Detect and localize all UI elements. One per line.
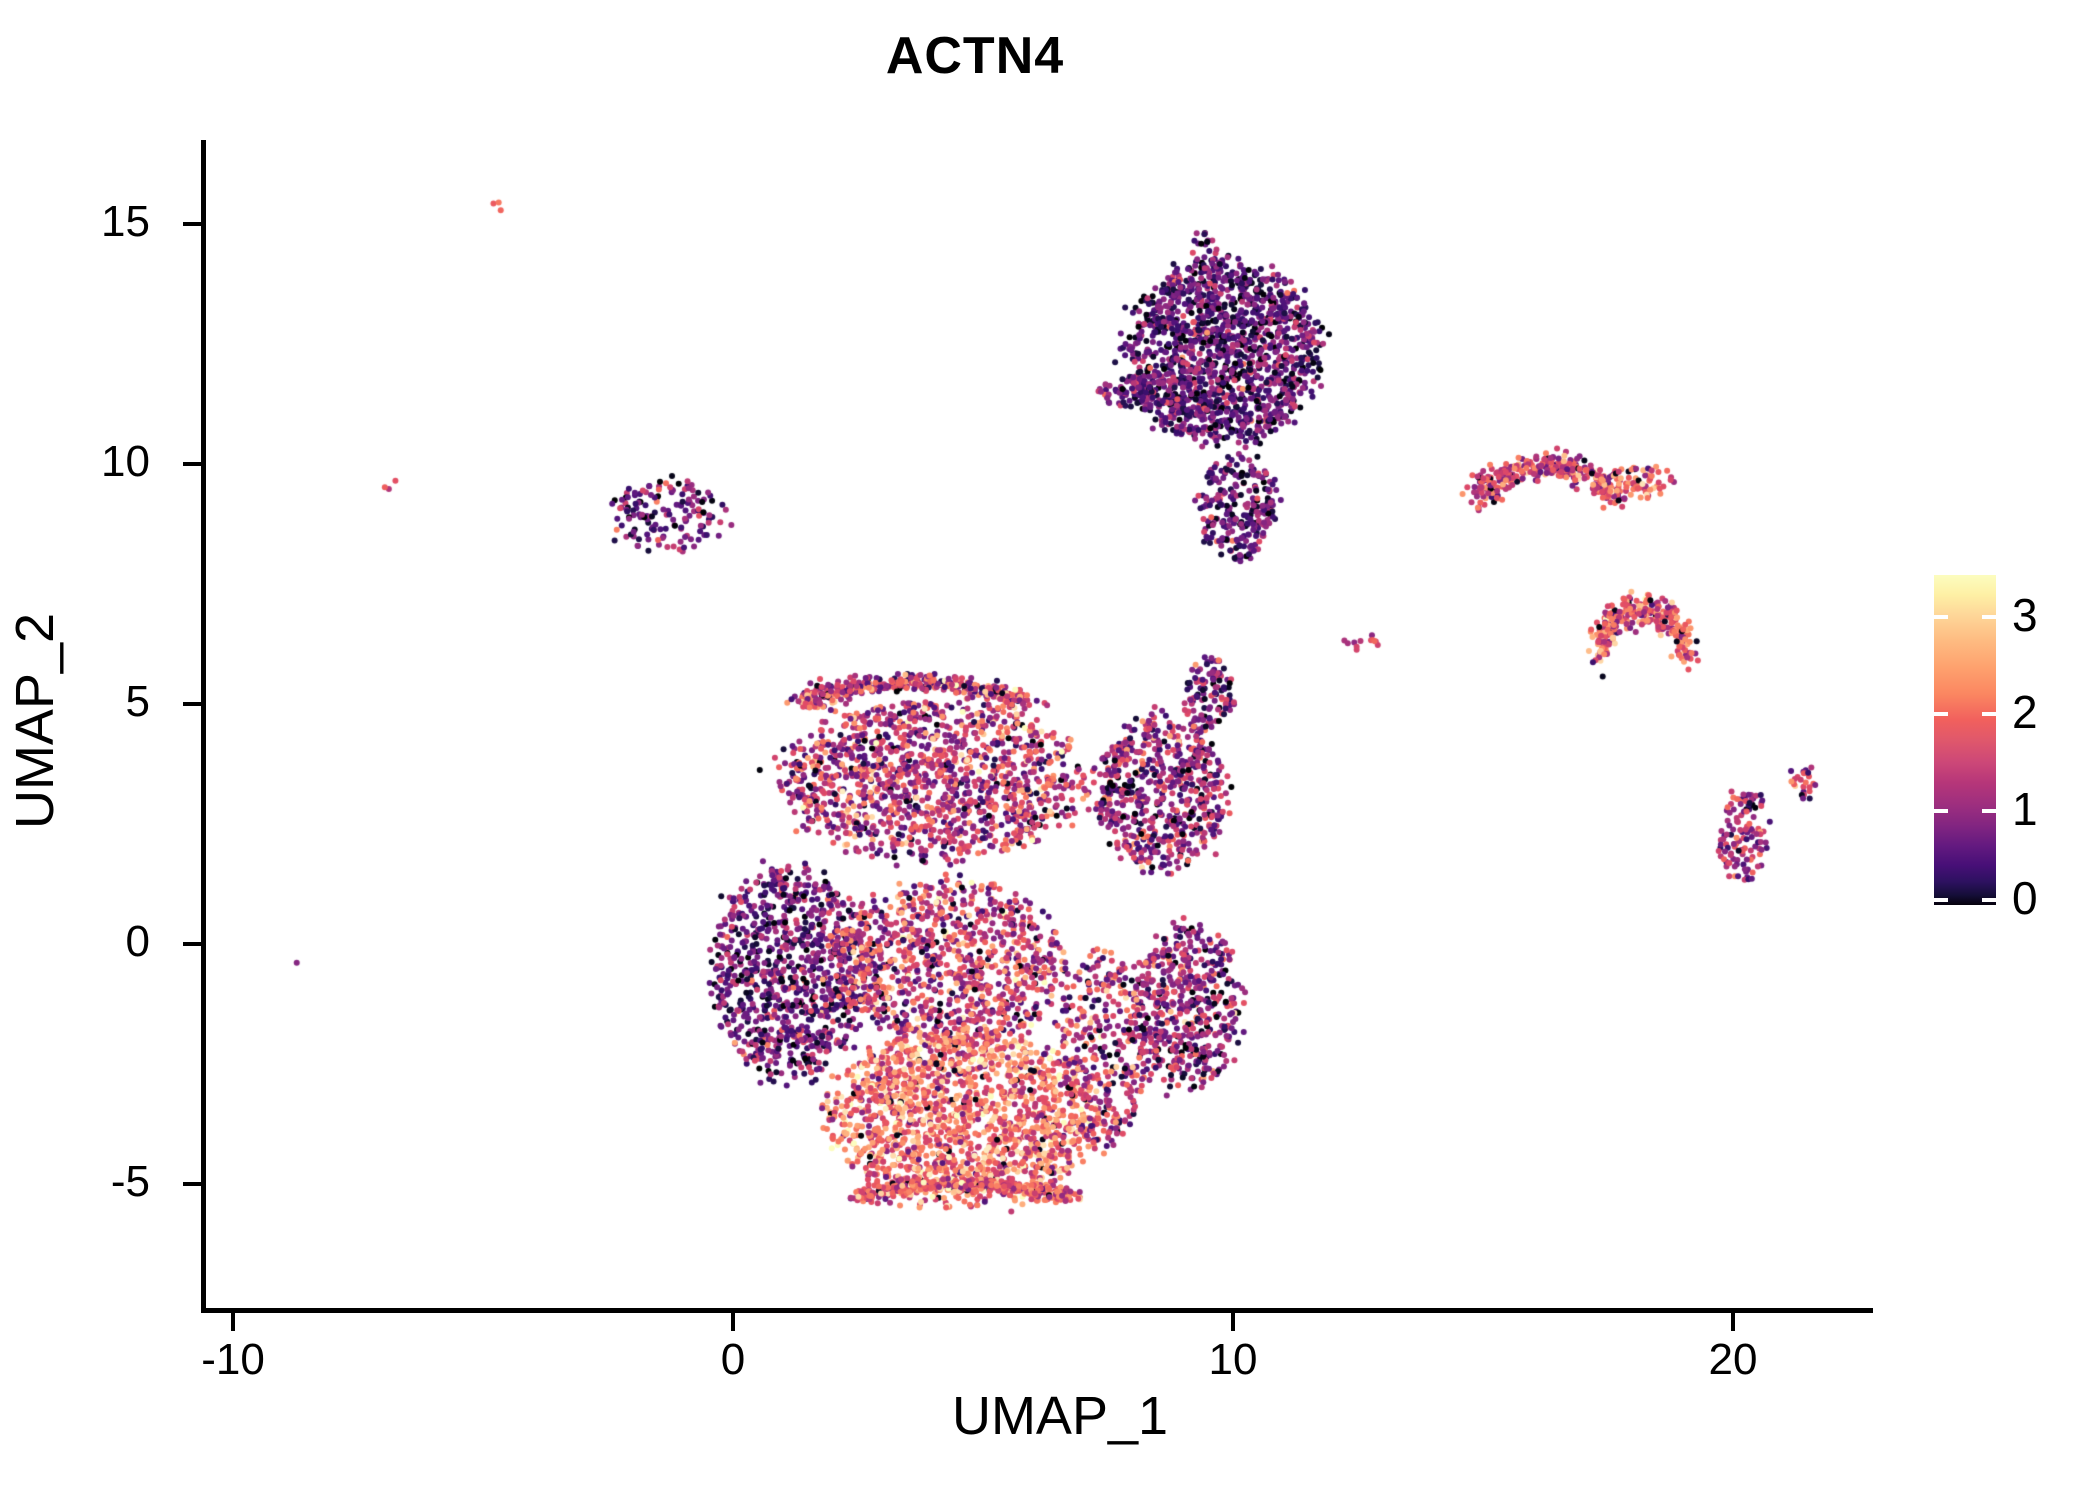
x-tick-mark-10 (1231, 1313, 1235, 1331)
scatter-plot-canvas (205, 140, 1870, 1310)
colorbar-tick-1-left (1934, 809, 1948, 813)
y-tick-mark-m5 (183, 1182, 201, 1186)
x-tick-mark-0 (731, 1313, 735, 1331)
colorbar-tick-3-left (1934, 615, 1948, 619)
y-axis-title: UMAP_2 (4, 471, 66, 971)
y-tick-label-15: 15 (30, 200, 150, 244)
plot-panel (205, 140, 1870, 1310)
plot-title-text: ACTN4 (886, 26, 1064, 86)
colorbar-tick-1-right (1982, 809, 1996, 813)
colorbar-label-0: 0 (2012, 875, 2092, 921)
x-axis-title: UMAP_1 (560, 1385, 1560, 1447)
x-tick-mark-20 (1731, 1313, 1735, 1331)
y-tick-mark-10 (183, 462, 201, 466)
y-tick-mark-0 (183, 942, 201, 946)
x-tick-label-10: 10 (1153, 1338, 1313, 1382)
page-title: ACTN4 (0, 26, 2100, 86)
y-axis-line (201, 140, 206, 1313)
colorbar-tick-0-right (1982, 898, 1996, 902)
colorbar-tick-2-right (1982, 712, 1996, 716)
x-tick-label-0: 0 (653, 1338, 813, 1382)
x-tick-label-20: 20 (1653, 1338, 1813, 1382)
y-tick-label-m5: -5 (30, 1160, 150, 1204)
colorbar-legend: 3 2 1 0 (1934, 575, 2084, 910)
colorbar-tick-0-left (1934, 898, 1948, 902)
y-tick-mark-5 (183, 702, 201, 706)
colorbar-tick-3-right (1982, 615, 1996, 619)
x-tick-label-m10: -10 (153, 1338, 313, 1382)
x-axis-line (201, 1308, 1873, 1313)
umap-feature-plot: ACTN4 15 10 5 0 -5 -10 0 10 20 UMAP_1 UM… (0, 0, 2100, 1500)
colorbar-label-1: 1 (2012, 786, 2092, 832)
x-tick-mark-m10 (231, 1313, 235, 1331)
y-tick-mark-15 (183, 222, 201, 226)
colorbar-label-3: 3 (2012, 592, 2092, 638)
colorbar-tick-2-left (1934, 712, 1948, 716)
colorbar-gradient (1934, 575, 1996, 905)
colorbar-label-2: 2 (2012, 689, 2092, 735)
